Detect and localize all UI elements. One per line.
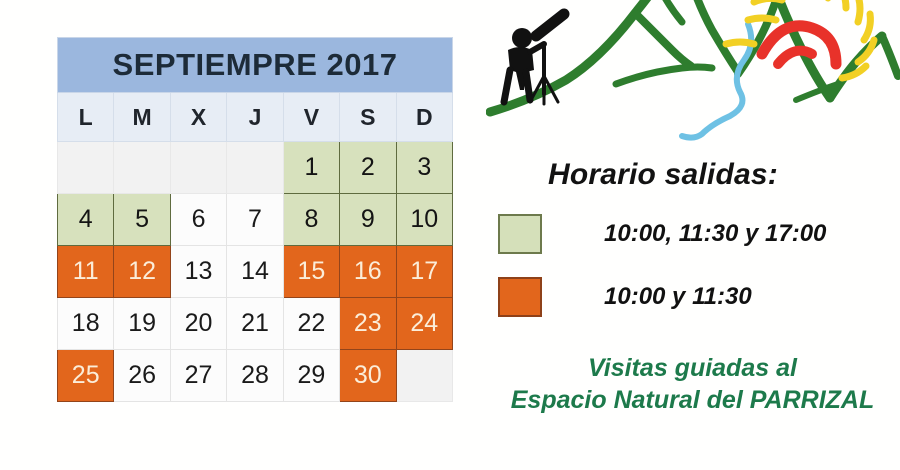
calendar-week-row: 123: [58, 142, 453, 194]
calendar-day-25[interactable]: 25: [58, 350, 114, 402]
legend-swatch-green-icon: [498, 214, 542, 254]
calendar-day-14[interactable]: 14: [227, 246, 283, 298]
calendar-day-28[interactable]: 28: [227, 350, 283, 402]
nature-park-logo: [486, 0, 900, 142]
calendar-day-empty: [227, 142, 283, 194]
legend-item-orange: 10:00 y 11:30: [498, 277, 752, 317]
calendar-day-18[interactable]: 18: [58, 298, 114, 350]
calendar-weekday-l: L: [58, 93, 114, 142]
legend-item-green: 10:00, 11:30 y 17:00: [498, 214, 826, 254]
calendar-day-20[interactable]: 20: [170, 298, 226, 350]
calendar-weekday-v: V: [283, 93, 339, 142]
calendar-day-11[interactable]: 11: [58, 246, 114, 298]
calendar-weekday-m: M: [114, 93, 170, 142]
calendar-day-17[interactable]: 17: [396, 246, 452, 298]
calendar-week-row: 45678910: [58, 194, 453, 246]
calendar-day-8[interactable]: 8: [283, 194, 339, 246]
calendar-week-row: 18192021222324: [58, 298, 453, 350]
calendar-day-24[interactable]: 24: [396, 298, 452, 350]
calendar-day-30[interactable]: 30: [340, 350, 396, 402]
calendar-day-empty: [170, 142, 226, 194]
calendar-month-title: SEPTIEMPRE 2017: [113, 47, 398, 82]
calendar-day-21[interactable]: 21: [227, 298, 283, 350]
calendar-day-29[interactable]: 29: [283, 350, 339, 402]
schedule-title: Horario salidas:: [548, 158, 778, 192]
calendar-weekday-x: X: [170, 93, 226, 142]
calendar-day-1[interactable]: 1: [283, 142, 339, 194]
footer-caption: Visitas guiadas al Espacio Natural del P…: [485, 352, 900, 416]
calendar-day-12[interactable]: 12: [114, 246, 170, 298]
calendar-day-26[interactable]: 26: [114, 350, 170, 402]
legend-label-orange: 10:00 y 11:30: [604, 283, 752, 311]
calendar-day-15[interactable]: 15: [283, 246, 339, 298]
calendar-day-10[interactable]: 10: [396, 194, 452, 246]
legend-swatch-orange-icon: [498, 277, 542, 317]
calendar-day-22[interactable]: 22: [283, 298, 339, 350]
calendar-day-2[interactable]: 2: [340, 142, 396, 194]
calendar-day-empty: [114, 142, 170, 194]
calendar-day-empty: [58, 142, 114, 194]
calendar-day-23[interactable]: 23: [340, 298, 396, 350]
calendar-day-empty: [396, 350, 452, 402]
calendar-day-5[interactable]: 5: [114, 194, 170, 246]
calendar-day-4[interactable]: 4: [58, 194, 114, 246]
calendar-weekday-d: D: [396, 93, 452, 142]
calendar-weekday-j: J: [227, 93, 283, 142]
footer-line-1: Visitas guiadas al: [485, 352, 900, 384]
calendar-day-6[interactable]: 6: [170, 194, 226, 246]
calendar-weekday-s: S: [340, 93, 396, 142]
calendar-title-row: SEPTIEMPRE 2017: [58, 38, 453, 93]
calendar-day-7[interactable]: 7: [227, 194, 283, 246]
calendar-day-16[interactable]: 16: [340, 246, 396, 298]
calendar-body: 1234567891011121314151617181920212223242…: [58, 142, 453, 402]
calendar-day-27[interactable]: 27: [170, 350, 226, 402]
calendar-weekday-row: LMXJVSD: [58, 93, 453, 142]
calendar-week-row: 252627282930: [58, 350, 453, 402]
calendar-day-3[interactable]: 3: [396, 142, 452, 194]
logo-svg: [486, 0, 900, 142]
calendar-day-9[interactable]: 9: [340, 194, 396, 246]
footer-line-2: Espacio Natural del PARRIZAL: [485, 384, 900, 416]
legend-label-green: 10:00, 11:30 y 17:00: [604, 220, 826, 248]
calendar-week-row: 11121314151617: [58, 246, 453, 298]
calendar-day-19[interactable]: 19: [114, 298, 170, 350]
calendar-day-13[interactable]: 13: [170, 246, 226, 298]
calendar-title-cell: SEPTIEMPRE 2017: [58, 38, 453, 93]
calendar-table: SEPTIEMPRE 2017 LMXJVSD 1234567891011121…: [57, 37, 453, 402]
